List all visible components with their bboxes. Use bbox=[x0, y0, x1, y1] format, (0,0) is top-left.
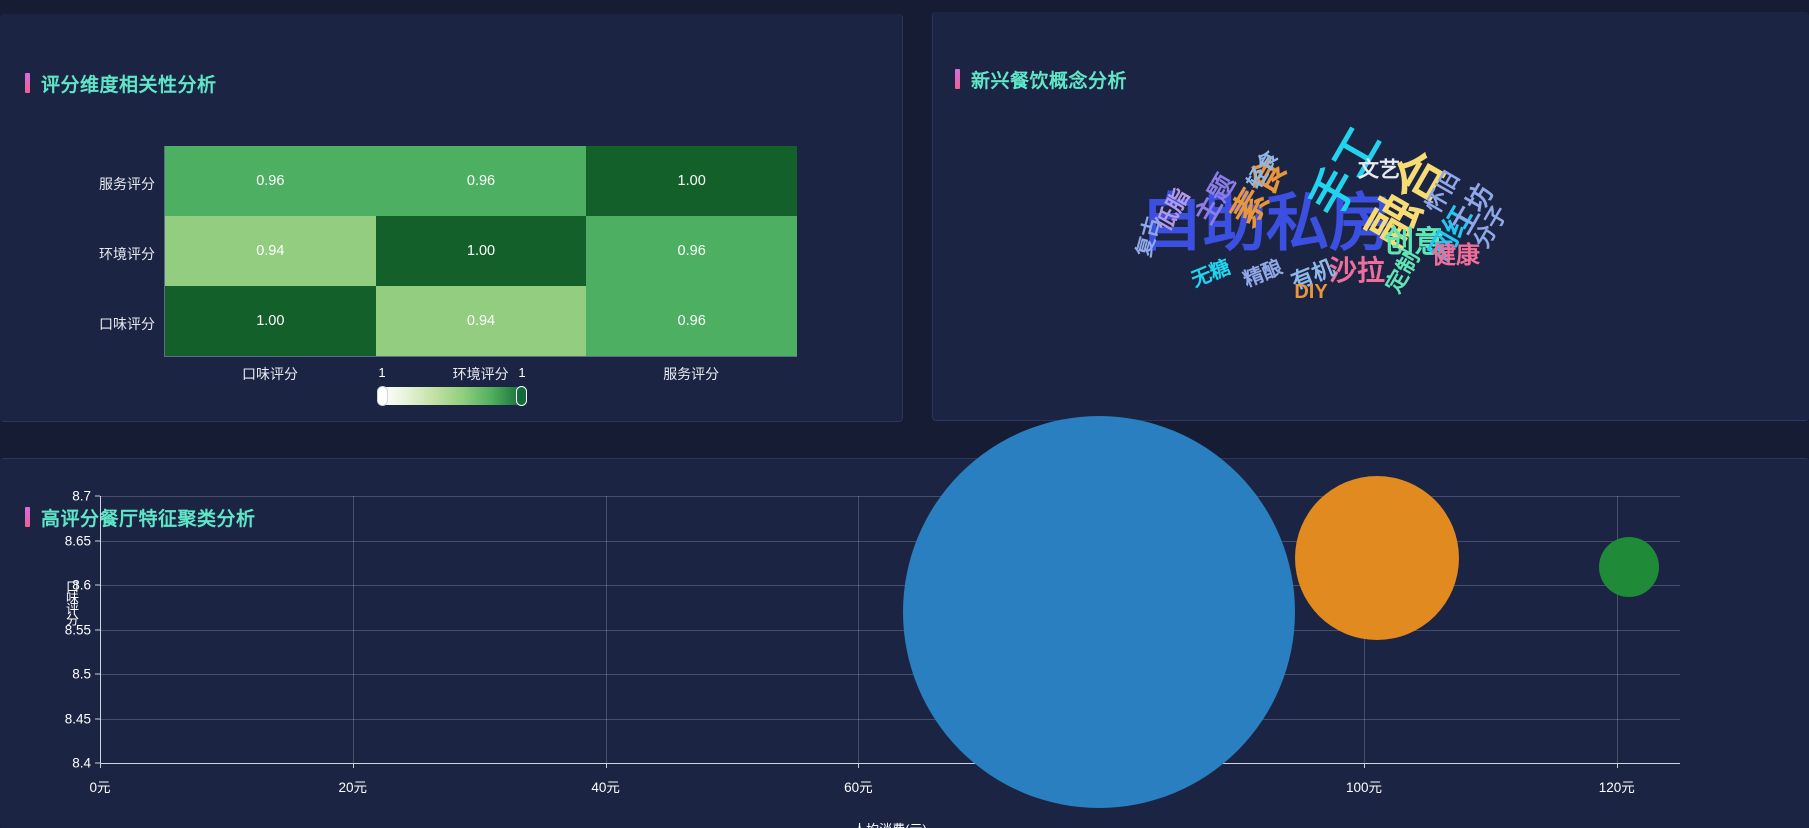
bubble-gridline-horizontal bbox=[100, 719, 1680, 720]
bubble-gridline-vertical bbox=[100, 496, 101, 763]
heatmap-chart: 0.960.961.000.941.000.961.000.940.96 服务评… bbox=[165, 146, 797, 356]
wordcloud-word[interactable]: DIY bbox=[1294, 282, 1327, 302]
bubble-x-axis-tick-mark bbox=[1364, 763, 1365, 768]
panel-cluster-analysis: 高评分餐厅特征聚类分析 8.48.458.58.558.68.658.7 0元2… bbox=[0, 458, 1809, 828]
bubble-gridline-horizontal bbox=[100, 630, 1680, 631]
bubble-x-axis-tick-label: 60元 bbox=[813, 776, 903, 796]
bubble-x-axis-tick-mark bbox=[1617, 763, 1618, 768]
bubble-point[interactable] bbox=[1295, 476, 1459, 640]
bubble-y-axis-tick-label: 8.4 bbox=[27, 756, 91, 771]
bubble-y-axis-title: 口味评分 bbox=[62, 580, 81, 624]
bubble-x-axis-tick-label: 40元 bbox=[561, 776, 651, 796]
bubble-y-axis-tick-mark bbox=[95, 718, 100, 719]
wordcloud-word[interactable]: 健康 bbox=[1432, 244, 1480, 268]
bubble-x-axis-tick-mark bbox=[858, 763, 859, 768]
bubble-x-axis-tick-mark bbox=[353, 763, 354, 768]
wordcloud-word[interactable]: 精酿 bbox=[1241, 257, 1286, 291]
visual-map-max-handle[interactable] bbox=[516, 386, 527, 406]
heatmap-x-axis-label: 服务评分 bbox=[586, 364, 796, 384]
heatmap-cell[interactable]: 0.96 bbox=[586, 216, 797, 286]
bubble-y-axis-tick-mark bbox=[95, 540, 100, 541]
title-accent-bar-icon bbox=[25, 507, 30, 527]
bubble-point[interactable] bbox=[1599, 537, 1659, 597]
wordcloud-word[interactable]: 文艺 bbox=[1358, 160, 1400, 181]
heatmap-y-axis-label: 口味评分 bbox=[25, 314, 155, 334]
visual-map-min-label: 1 bbox=[367, 365, 397, 380]
bubble-x-axis-tick-mark bbox=[606, 763, 607, 768]
bubble-y-axis-tick-label: 8.65 bbox=[27, 533, 91, 548]
visual-map-gradient-bar[interactable] bbox=[380, 387, 524, 405]
bubble-gridline-vertical bbox=[606, 496, 607, 763]
bubble-gridline-horizontal bbox=[100, 496, 1680, 497]
bubble-y-axis-tick-mark bbox=[95, 496, 100, 497]
bubble-y-axis-tick-label: 8.6 bbox=[27, 578, 91, 593]
heatmap-cell[interactable]: 0.96 bbox=[165, 146, 376, 216]
visual-map-max-label: 1 bbox=[507, 365, 537, 380]
bubble-chart-plot-area: 8.48.458.58.558.68.658.7 0元20元40元60元80元1… bbox=[100, 496, 1680, 763]
bubble-gridline-vertical bbox=[353, 496, 354, 763]
bubble-y-axis-tick-label: 8.45 bbox=[27, 711, 91, 726]
bubble-y-axis-tick-label: 8.7 bbox=[27, 489, 91, 504]
visual-map-min-handle[interactable] bbox=[377, 386, 388, 406]
bubble-point[interactable] bbox=[903, 416, 1295, 808]
bubble-x-axis-tick-label: 20元 bbox=[308, 776, 398, 796]
heatmap-cell[interactable]: 1.00 bbox=[165, 286, 376, 356]
heatmap-visual-map-legend[interactable]: 1 1 bbox=[380, 387, 524, 405]
bubble-x-axis-tick-mark bbox=[100, 763, 101, 768]
panel-correlation-title-text: 评分维度相关性分析 bbox=[41, 70, 217, 97]
heatmap-cell[interactable]: 0.94 bbox=[376, 286, 587, 356]
bubble-gridline-vertical bbox=[1617, 496, 1618, 763]
heatmap-x-axis-line bbox=[164, 356, 797, 357]
bubble-x-axis-title: 人均消费(元) bbox=[853, 819, 927, 828]
bubble-y-axis-tick-mark bbox=[95, 585, 100, 586]
heatmap-cell[interactable]: 1.00 bbox=[586, 146, 797, 216]
bubble-y-axis-tick-label: 8.5 bbox=[27, 667, 91, 682]
bubble-y-axis-tick-mark bbox=[95, 674, 100, 675]
heatmap-cell-grid: 0.960.961.000.941.000.961.000.940.96 bbox=[165, 146, 797, 356]
bubble-gridline-horizontal bbox=[100, 763, 1680, 764]
heatmap-cell[interactable]: 0.96 bbox=[586, 286, 797, 356]
title-accent-bar-icon bbox=[25, 73, 30, 93]
panel-correlation-title: 评分维度相关性分析 bbox=[25, 70, 217, 97]
wordcloud-word[interactable]: 沙拉 bbox=[1329, 257, 1385, 285]
bubble-gridline-horizontal bbox=[100, 674, 1680, 675]
bubble-x-axis-tick-label: 100元 bbox=[1319, 776, 1409, 796]
heatmap-x-axis-label: 环境评分 bbox=[376, 364, 586, 384]
heatmap-cell[interactable]: 0.96 bbox=[376, 146, 587, 216]
wordcloud-word[interactable]: 无糖 bbox=[1189, 257, 1234, 291]
dashboard-root: 评分维度相关性分析 0.960.961.000.941.000.961.000.… bbox=[0, 0, 1809, 828]
heatmap-x-axis-label: 口味评分 bbox=[165, 364, 375, 384]
bubble-y-axis-tick-mark bbox=[95, 629, 100, 630]
heatmap-cell[interactable]: 1.00 bbox=[376, 216, 587, 286]
bubble-x-axis-tick-label: 120元 bbox=[1572, 776, 1662, 796]
panel-correlation-analysis: 评分维度相关性分析 0.960.961.000.941.000.961.000.… bbox=[0, 14, 903, 422]
panel-wordcloud-analysis: 新兴餐饮概念分析 自助私房融合手工素食创意沙拉网红健康主题工坊怀旧定制低脂文艺轻… bbox=[932, 12, 1809, 421]
wordcloud-chart: 自助私房融合手工素食创意沙拉网红健康主题工坊怀旧定制低脂文艺轻食分子有机无糖精酿… bbox=[933, 12, 1809, 421]
heatmap-cell[interactable]: 0.94 bbox=[165, 216, 376, 286]
heatmap-y-axis-label: 环境评分 bbox=[25, 244, 155, 264]
bubble-y-axis-tick-label: 8.55 bbox=[27, 622, 91, 637]
bubble-gridline-vertical bbox=[858, 496, 859, 763]
heatmap-y-axis-label: 服务评分 bbox=[25, 174, 155, 194]
bubble-x-axis-tick-label: 0元 bbox=[55, 776, 145, 796]
